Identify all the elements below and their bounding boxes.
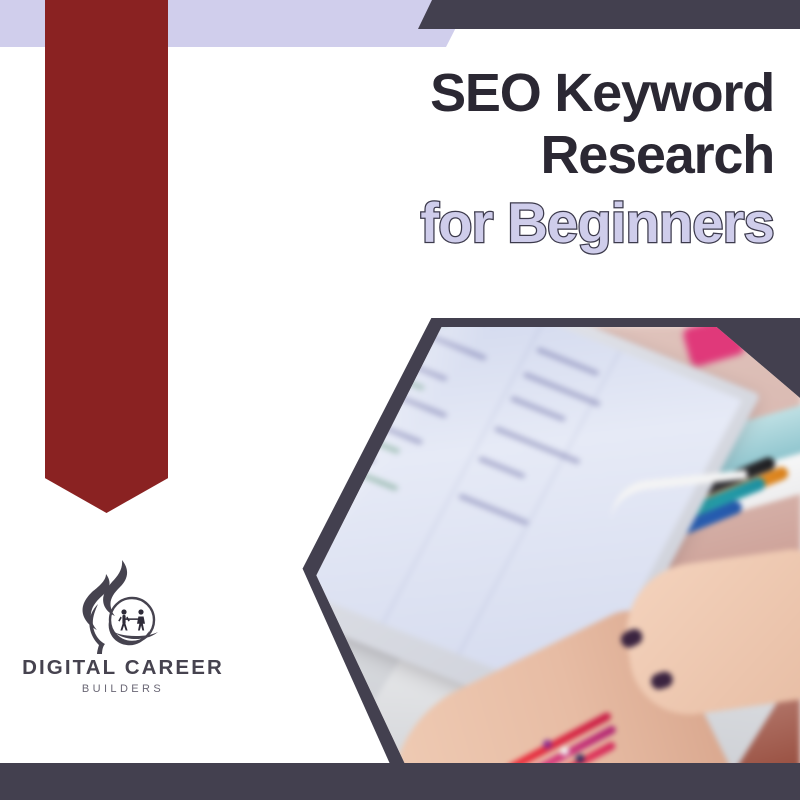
logo-name: DIGITAL CAREER [18, 656, 228, 680]
headline-line-1: SEO Keyword [304, 62, 774, 124]
navy-bottom-band [0, 763, 800, 800]
brand-logo: DIGITAL CAREER BUILDERS [18, 556, 228, 698]
navy-top-band [418, 0, 800, 29]
poster-canvas: SEO Keyword Research for Beginners [0, 0, 800, 800]
headline-line-2: Research [304, 124, 774, 186]
red-arrow-bar [45, 0, 168, 513]
photo-composition [295, 318, 800, 800]
headline-block: SEO Keyword Research for Beginners [304, 62, 774, 260]
headline-line-3-accent: for Beginners [304, 186, 774, 260]
flame-circle-family-icon [18, 556, 228, 656]
logo-subtitle: BUILDERS [18, 680, 228, 698]
